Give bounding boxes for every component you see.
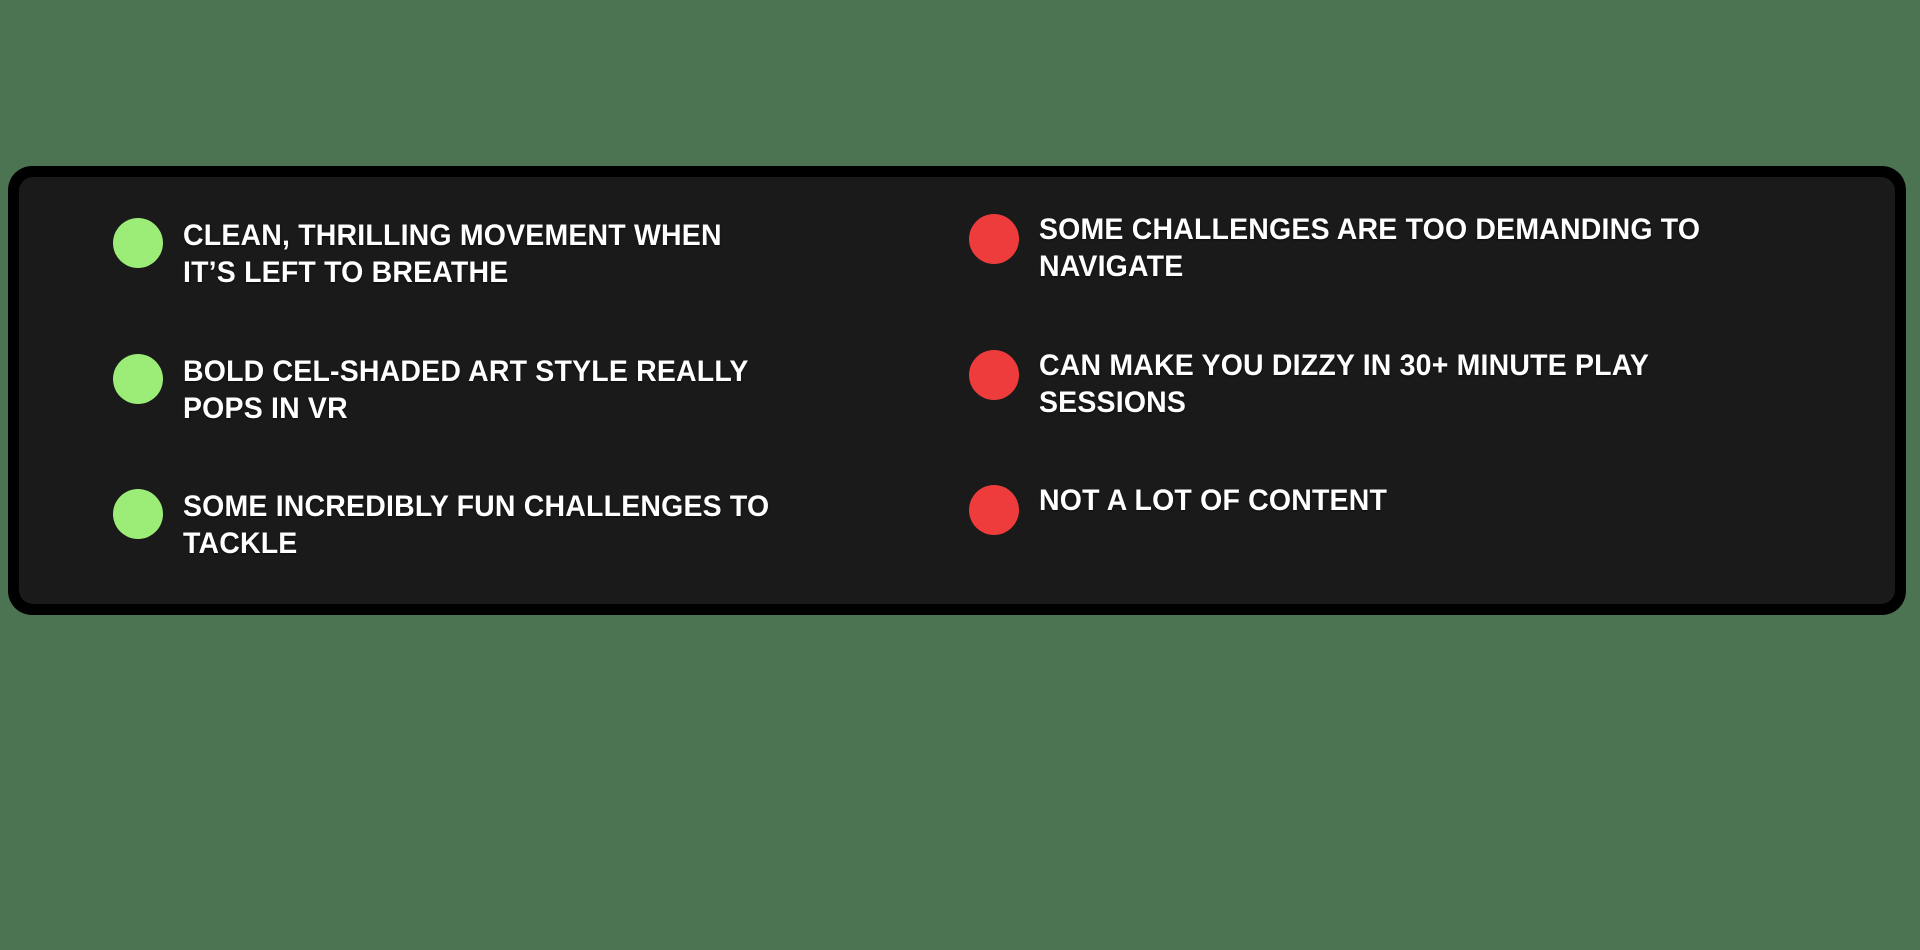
pro-dot-icon xyxy=(113,354,163,404)
procon-stage: CLEAN, THRILLING MOVEMENT WHEN IT’S LEFT… xyxy=(0,0,1920,950)
pros-item-label: SOME INCREDIBLY FUN CHALLENGES TO TACKLE xyxy=(183,488,781,562)
pro-dot-icon xyxy=(113,489,163,539)
con-dot-icon xyxy=(969,214,1019,264)
cons-column: SOME CHALLENGES ARE TOO DEMANDING TO NAV… xyxy=(937,217,1895,564)
pros-and-cons-card-inner: CLEAN, THRILLING MOVEMENT WHEN IT’S LEFT… xyxy=(19,177,1895,604)
cons-item-label: SOME CHALLENGES ARE TOO DEMANDING TO NAV… xyxy=(1039,211,1715,285)
cons-item: CAN MAKE YOU DIZZY IN 30+ MINUTE PLAY SE… xyxy=(969,353,1855,429)
pro-dot-icon xyxy=(113,218,163,268)
pros-item: SOME INCREDIBLY FUN CHALLENGES TO TACKLE xyxy=(113,488,907,564)
pros-item: CLEAN, THRILLING MOVEMENT WHEN IT’S LEFT… xyxy=(113,217,907,293)
cons-item: SOME CHALLENGES ARE TOO DEMANDING TO NAV… xyxy=(969,217,1855,293)
cons-item-label: NOT A LOT OF CONTENT xyxy=(1039,482,1387,519)
con-dot-icon xyxy=(969,485,1019,535)
pros-column: CLEAN, THRILLING MOVEMENT WHEN IT’S LEFT… xyxy=(19,217,937,564)
pros-item-label: CLEAN, THRILLING MOVEMENT WHEN IT’S LEFT… xyxy=(183,217,781,291)
con-dot-icon xyxy=(969,350,1019,400)
cons-item: NOT A LOT OF CONTENT xyxy=(969,488,1855,564)
pros-and-cons-card: CLEAN, THRILLING MOVEMENT WHEN IT’S LEFT… xyxy=(8,166,1906,615)
pros-item-label: BOLD CEL-SHADED ART STYLE REALLY POPS IN… xyxy=(183,353,781,427)
cons-item-label: CAN MAKE YOU DIZZY IN 30+ MINUTE PLAY SE… xyxy=(1039,347,1715,421)
pros-item: BOLD CEL-SHADED ART STYLE REALLY POPS IN… xyxy=(113,353,907,429)
